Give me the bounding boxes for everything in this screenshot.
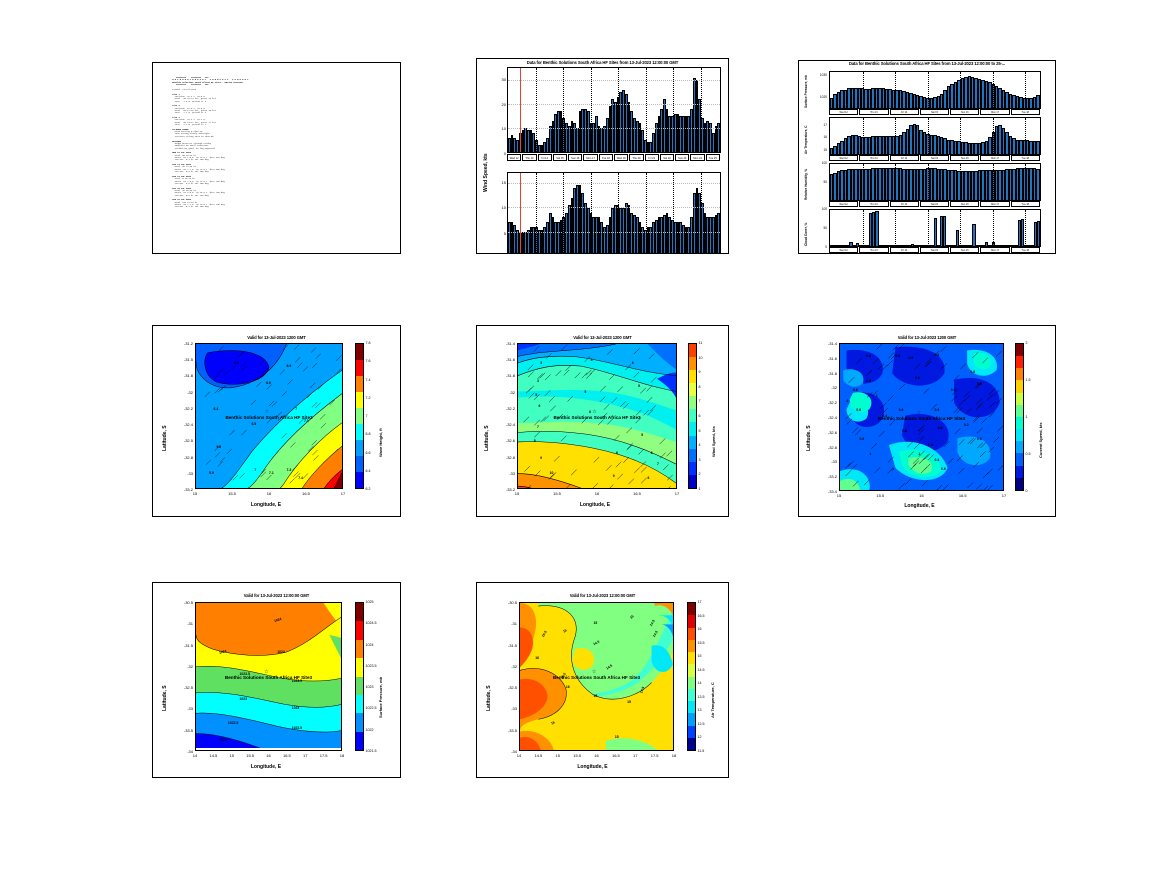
current-contour-xlabel: Longitude, E — [837, 503, 1002, 509]
x-tick-label: 17 — [626, 753, 644, 758]
day-divider — [895, 210, 896, 246]
day-divider — [928, 164, 929, 200]
x-tick-label: 15.5 — [871, 493, 889, 498]
temperature-contour-title: Valid for 13-Jul-2023 12:00:00 GMT — [477, 593, 728, 598]
x-tick-label: 16.5 — [278, 753, 296, 758]
contour-label: 6 — [539, 404, 541, 408]
y-tick-label: -33 — [822, 459, 837, 464]
colorbar-tick-label: 15 — [698, 654, 702, 658]
site-label: Benthic Solutions South Africa HF Site3 — [520, 675, 673, 680]
contour-label: 6.5 — [234, 361, 239, 365]
day-divider — [618, 68, 619, 152]
colorbar-segment — [689, 475, 696, 488]
colorbar-tick-label: 6.4 — [366, 469, 371, 473]
x-tick-label: 16 — [588, 491, 606, 496]
y-tick-label: -32 — [502, 664, 517, 669]
met-subplot-ytick: 0 — [809, 245, 827, 249]
contour-label: 0.6 — [977, 382, 982, 386]
wave-height-axes — [507, 172, 721, 254]
colorbar-tick-label: 2 — [699, 472, 701, 476]
contour-label: 0 — [847, 399, 849, 403]
met-day-label: Sat 15 — [920, 155, 949, 161]
colorbar-segment — [356, 376, 363, 392]
y-tick-label: -33.2 — [822, 474, 837, 479]
colorbar — [1015, 343, 1024, 491]
contour-label: 6.5 — [251, 422, 256, 426]
colorbar-tick-label: 5 — [699, 429, 701, 433]
colorbar-tick-label: 1023 — [366, 685, 374, 689]
temperature-contour-axes: 15.515151514.514.514.51615.516151514.516… — [519, 602, 674, 751]
day-divider — [863, 118, 864, 154]
x-tick-label: 14.5 — [529, 753, 547, 758]
wind-speed-day-label: Fri 21 — [645, 154, 659, 161]
x-tick-label: 17 — [296, 753, 314, 758]
met-subplot-ylabel: Air Temperature, C — [804, 126, 808, 154]
met-subplot-ylabel: Surface Pressure, mb — [804, 75, 808, 108]
contour-label: 15 — [615, 735, 619, 739]
x-tick-label: 16.5 — [954, 493, 972, 498]
contour-label: 0.4 — [928, 443, 933, 447]
contour-label: 16 — [550, 720, 555, 725]
day-divider — [591, 173, 592, 254]
x-tick-label: 16 — [260, 753, 278, 758]
forecast-text-body: ======== ======== === M E T E O R O L O … — [171, 77, 392, 209]
wind-speed-day-label: Mon 17 — [583, 154, 597, 161]
contour-label: 16 — [566, 685, 570, 689]
y-tick-label: -33.5 — [178, 728, 193, 733]
wind-speed-axes — [507, 67, 721, 153]
colorbar-segment — [1016, 466, 1023, 478]
x-tick-label: 15.5 — [241, 753, 259, 758]
contour-label: 5 — [584, 390, 586, 394]
wind-contour-title: Valid for 13-Jul-2023 1200 GMT — [477, 335, 728, 340]
bar-series — [830, 210, 1040, 246]
met-subplot-ytick: 1020 — [809, 95, 827, 99]
colorbar-tick-label: 6.6 — [366, 451, 371, 455]
y-tick-label: -31.6 — [822, 356, 837, 361]
contour-label: 6.9 — [287, 364, 292, 368]
contour-label: 0.8 — [866, 354, 871, 358]
met-subplot-ytick: 100 — [809, 207, 827, 211]
y-tick-label: -31.8 — [500, 373, 515, 378]
site-label: Benthic Solutions South Africa HF Site3 — [196, 415, 342, 420]
day-divider — [960, 72, 961, 108]
colorbar-tick-label: 1021.5 — [366, 749, 377, 753]
day-divider — [536, 173, 537, 254]
met-subplot-ylabel: Cloud Cover, % — [804, 223, 808, 246]
wind-contour-axes: 33567891045666556769Benthic Solutions So… — [517, 343, 677, 489]
contour-label: 1022.5 — [228, 721, 238, 725]
contour-label: 1023 — [240, 697, 248, 701]
contour-label: 6.4 — [214, 407, 219, 411]
bar — [1036, 169, 1039, 200]
met-subplot-axes — [829, 209, 1041, 247]
wind-speed-ytick: 20 — [493, 102, 506, 107]
day-divider — [1025, 118, 1026, 154]
wind-wave-timeseries-panel: Data for Benthic Solutions South Africa … — [476, 58, 729, 254]
x-tick-label: 16.5 — [628, 491, 646, 496]
met-day-label: Wed 12 — [829, 155, 858, 161]
y-tick-label: -32 — [500, 390, 515, 395]
day-divider — [701, 68, 702, 152]
site-label: Benthic Solutions South Africa HF Site3 — [840, 416, 1003, 421]
contour-label: 16 — [535, 656, 539, 660]
y-tick-label: -33 — [502, 706, 517, 711]
y-tick-label: -32.8 — [178, 455, 193, 460]
colorbar-tick-label: 9 — [699, 370, 701, 374]
wind-speed-day-label: Sat 15 — [553, 154, 567, 161]
met-day-label: Tue 18 — [1011, 247, 1040, 253]
colorbar-segment — [689, 436, 696, 449]
day-divider — [960, 118, 961, 154]
site-label: Benthic Solutions South Africa HF Site3 — [518, 415, 676, 420]
contour-label: 0.6 — [935, 408, 940, 412]
wind-speed-ytick: 30 — [493, 77, 506, 82]
bar — [1021, 219, 1024, 246]
colorbar-tick-label: 6.8 — [366, 432, 371, 436]
contour-label: 0.6 — [853, 388, 858, 392]
y-tick-label: -32.2 — [500, 406, 515, 411]
wind-speed-day-label: Sat 22 — [660, 154, 674, 161]
colorbar-segment — [1016, 429, 1023, 441]
met-day-label: Fri 14 — [890, 247, 919, 253]
colorbar-segment — [1016, 356, 1023, 368]
colorbar-tick-label: 12.5 — [698, 722, 705, 726]
wind-speed-day-label: Mon 24 — [690, 154, 704, 161]
colorbar-tick-label: 8 — [699, 385, 701, 389]
day-divider — [960, 164, 961, 200]
temperature-contour-ylabel: Latitude, S — [486, 685, 492, 711]
y-tick-label: -31.2 — [178, 341, 193, 346]
met-day-label: Fri 14 — [890, 109, 919, 115]
contour-label: 7.4 — [298, 476, 303, 480]
colorbar-segment — [356, 732, 363, 750]
y-tick-label: -33 — [500, 471, 515, 476]
colorbar-segment — [356, 456, 363, 472]
met-subplot-ytick: 16 — [809, 135, 827, 139]
y-tick-label: -32.6 — [500, 438, 515, 443]
met-day-label: Tue 18 — [1011, 201, 1040, 207]
met-timeseries-panel: Data for Benthic Solutions South Africa … — [798, 60, 1056, 254]
colorbar-tick-label: 15.5 — [698, 641, 705, 645]
contour-label: 1022 — [219, 738, 227, 742]
pressure-contour-axes: 1024102410241023.51023.5102310231022.510… — [195, 602, 342, 751]
site-marker-icon: ☆ — [917, 410, 921, 416]
day-divider — [646, 68, 647, 152]
wave-contour-ylabel: Latitude, S — [162, 425, 168, 451]
colorbar-title: Air Temperature, C — [710, 683, 715, 719]
contour-label: 10 — [550, 471, 554, 475]
day-divider — [1025, 72, 1026, 108]
air-temperature-contour-panel: Valid for 13-Jul-2023 12:00:00 GMT Latit… — [476, 582, 729, 778]
site-marker-icon: ☆ — [592, 409, 596, 415]
y-tick-label: -34 — [502, 749, 517, 754]
wind-speed-axis-label: Wind Speed, kts — [483, 153, 489, 192]
met-day-label: Wed 12 — [829, 109, 858, 115]
colorbar-segment — [1016, 441, 1023, 453]
contour-label: 6 — [616, 451, 618, 455]
contour-label: 0.8 — [902, 429, 907, 433]
met-subplot-axes — [829, 117, 1041, 155]
colorbar-tick-label: 1.5 — [1026, 378, 1031, 382]
colorbar-tick-label: 14.5 — [698, 668, 705, 672]
colorbar-tick-label: 1022.5 — [366, 706, 377, 710]
y-tick-label: -33 — [178, 706, 193, 711]
bar — [1037, 221, 1040, 246]
colorbar-segment — [1016, 344, 1023, 356]
colorbar-tick-label: 7.2 — [366, 396, 371, 400]
wind-speed-day-label: Sun 16 — [568, 154, 582, 161]
bar — [972, 224, 975, 246]
colorbar-segment — [356, 408, 363, 424]
gridline — [508, 183, 720, 184]
colorbar-tick-label: 4 — [699, 443, 701, 447]
day-divider — [928, 118, 929, 154]
bar — [943, 216, 946, 246]
met-subplot-axes — [829, 163, 1041, 201]
y-tick-label: -30.5 — [178, 600, 193, 605]
pressure-contour-ylabel: Latitude, S — [162, 685, 168, 711]
temperature-contour-xlabel: Longitude, E — [515, 764, 670, 770]
current-contour-ylabel: Latitude, S — [806, 425, 812, 451]
colorbar-tick-label: 16.5 — [698, 614, 705, 618]
contour-label: 6.6 — [216, 445, 221, 449]
met-day-label: Wed 12 — [829, 201, 858, 207]
colorbar-segment — [356, 360, 363, 376]
x-tick-label: 18 — [333, 753, 351, 758]
contour-label: 15 — [627, 700, 631, 704]
day-divider — [993, 164, 994, 200]
x-tick-label: 15 — [223, 753, 241, 758]
contour-label: 0.6 — [935, 353, 940, 357]
x-tick-label: 17 — [668, 491, 686, 496]
contour-label: 0.2 — [964, 423, 969, 427]
y-tick-label: -30.5 — [502, 600, 517, 605]
contour-label: 5 — [641, 433, 643, 437]
day-divider — [863, 72, 864, 108]
y-tick-label: -32.2 — [822, 400, 837, 405]
wind-speed-day-label: Tue 25 — [706, 154, 720, 161]
bar — [717, 213, 720, 254]
x-tick-label: 17.5 — [646, 753, 664, 758]
y-tick-label: -33.2 — [178, 487, 193, 492]
contour-label: 15 — [593, 694, 597, 698]
bar-series — [508, 173, 720, 254]
y-tick-label: -31.4 — [500, 341, 515, 346]
site-marker-icon: ☆ — [264, 669, 268, 675]
x-tick-label: 17 — [995, 493, 1013, 498]
y-tick-label: -32 — [822, 385, 837, 390]
contour-label: 1024 — [277, 650, 285, 654]
day-divider — [863, 164, 864, 200]
colorbar-segment — [688, 628, 695, 640]
contour-label: 1 — [892, 467, 894, 471]
met-chart-title: Data for Benthic Solutions South Africa … — [799, 61, 1055, 66]
forecast-text-report-panel: ======== ======== === M E T E O R O L O … — [152, 62, 401, 254]
colorbar-segment — [356, 658, 363, 676]
colorbar-segment — [688, 726, 695, 738]
colorbar-tick-label: 11.5 — [698, 749, 705, 753]
day-divider — [701, 173, 702, 254]
colorbar-segment — [688, 677, 695, 689]
colorbar-tick-label: 13.5 — [698, 695, 705, 699]
y-tick-label: -32.5 — [178, 685, 193, 690]
colorbar — [687, 602, 696, 751]
current-time-marker — [520, 68, 521, 152]
colorbar-tick-label: 1023.5 — [366, 664, 377, 668]
met-day-label: Sat 15 — [920, 201, 949, 207]
contour-label: 9 — [613, 474, 615, 478]
met-subplot-ylabel: Relative Humidity, % — [804, 169, 808, 200]
contour-label: 15 — [593, 621, 597, 625]
met-day-label: Mon 17 — [980, 201, 1009, 207]
colorbar-tick-label: 6 — [699, 414, 701, 418]
colorbar-segment — [688, 738, 695, 750]
colorbar-tick-label: 6.2 — [366, 487, 371, 491]
contour-label: 0.6 — [856, 408, 861, 412]
met-day-label: Thu 13 — [859, 201, 888, 207]
colorbar-segment — [356, 713, 363, 731]
colorbar-segment — [689, 462, 696, 475]
x-tick-label: 14.5 — [204, 753, 222, 758]
colorbar-segment — [356, 640, 363, 658]
contour-label: 7.3 — [287, 468, 292, 472]
contour-label: 0.6 — [895, 354, 900, 358]
contour-label: 7 — [537, 425, 539, 429]
day-divider — [673, 173, 674, 254]
colorbar-segment — [689, 409, 696, 422]
colorbar-tick-label: 1 — [699, 487, 701, 491]
gridline — [508, 128, 720, 129]
colorbar-tick-label: 2 — [1026, 341, 1028, 345]
contour-label: 0.8 — [866, 379, 871, 383]
contour-label: 0.4 — [935, 458, 940, 462]
contour-label: 5 — [535, 393, 537, 397]
day-divider — [673, 68, 674, 152]
x-tick-label: 16.5 — [607, 753, 625, 758]
day-divider — [895, 118, 896, 154]
y-tick-label: -32 — [178, 664, 193, 669]
wave-contour-axes: 6.46.56.65.96.96.56.977.177.17.37.4Benth… — [195, 343, 343, 489]
met-day-label: Sun 16 — [950, 155, 979, 161]
met-subplot-ytick: 15 — [809, 148, 827, 152]
contour-label: 1022.5 — [292, 726, 302, 730]
y-tick-label: -31.4 — [822, 341, 837, 346]
current-time-marker — [520, 173, 521, 254]
y-tick-label: -33.2 — [500, 487, 515, 492]
bar-series — [830, 118, 1040, 154]
bar-series — [830, 72, 1040, 108]
colorbar-segment — [1016, 417, 1023, 429]
pressure-contour-xlabel: Longitude, E — [191, 764, 341, 770]
contour-label: 6 — [648, 476, 650, 480]
x-tick-label: 15.5 — [568, 753, 586, 758]
colorbar-title: Wave Height, ft — [378, 428, 383, 457]
colorbar-segment — [688, 640, 695, 652]
contour-label: 0.6 — [970, 370, 975, 374]
colorbar-tick-label: 0.5 — [1026, 452, 1031, 456]
met-day-label: Sat 15 — [920, 109, 949, 115]
contour-label: 3 — [537, 379, 539, 383]
contour-label: 0.2 — [951, 388, 956, 392]
colorbar-tick-label: 14 — [698, 681, 702, 685]
x-tick-label: 18 — [665, 753, 683, 758]
met-day-label: Mon 17 — [980, 109, 1009, 115]
met-day-label: Thu 13 — [859, 109, 888, 115]
contour-label: 7 — [295, 407, 297, 411]
colorbar-tick-label: 11 — [699, 341, 703, 345]
x-tick-label: 16 — [260, 491, 278, 496]
contour-label: 0.6 — [899, 408, 904, 412]
colorbar-segment — [1016, 453, 1023, 465]
colorbar-tick-label: 7 — [699, 399, 701, 403]
bar-series — [830, 164, 1040, 200]
site-marker-icon: ☆ — [592, 669, 596, 675]
gridline — [508, 232, 720, 233]
contour-label: 5.9 — [209, 471, 214, 475]
colorbar-segment — [356, 472, 363, 488]
wind-speed-contour-panel: Valid for 13-Jul-2023 1200 GMT Latitude,… — [476, 325, 729, 517]
wind-speed-day-label: Thu 20 — [629, 154, 643, 161]
met-day-label: Sun 16 — [950, 109, 979, 115]
met-day-label: Wed 12 — [829, 247, 858, 253]
bar — [1036, 95, 1039, 108]
colorbar-tick-label: 16 — [698, 627, 702, 631]
colorbar — [355, 602, 364, 751]
colorbar-tick-label: 1025 — [366, 600, 374, 604]
day-divider — [1025, 210, 1026, 246]
day-divider — [960, 210, 961, 246]
gridline — [508, 207, 720, 208]
wind-speed-day-label: Fri 14 — [538, 154, 552, 161]
wave-height-ytick: 15 — [493, 180, 506, 185]
bar — [956, 230, 959, 246]
contour-label: 3 — [540, 361, 542, 365]
contour-label: 6 — [651, 451, 653, 455]
y-tick-label: -33 — [178, 471, 193, 476]
colorbar-segment — [356, 603, 363, 621]
contour-label: 7 — [657, 462, 659, 466]
colorbar-tick-label: 17 — [698, 600, 702, 604]
met-day-label: Thu 13 — [859, 155, 888, 161]
met-day-label: Fri 14 — [890, 155, 919, 161]
y-tick-label: -33.5 — [502, 728, 517, 733]
day-divider — [646, 173, 647, 254]
contour-label: 7.1 — [269, 471, 274, 475]
day-divider — [863, 210, 864, 246]
contour-label: 7 — [254, 468, 256, 472]
y-tick-label: -32.5 — [178, 438, 193, 443]
day-divider — [618, 173, 619, 254]
wind-contour-ylabel: Latitude, S — [484, 425, 490, 451]
colorbar-tick-label: 13 — [698, 708, 702, 712]
day-divider — [993, 118, 994, 154]
wind-speed-ytick: 0 — [493, 151, 506, 156]
wave-height-ytick: 5 — [493, 231, 506, 236]
contour-label: 1 — [918, 452, 920, 456]
colorbar-segment — [356, 695, 363, 713]
met-subplot-ytick: 50 — [809, 226, 827, 230]
contour-label: 0.6 — [860, 437, 865, 441]
y-tick-label: -31.8 — [178, 373, 193, 378]
colorbar-tick-label: 7.8 — [366, 341, 371, 345]
gridline — [508, 104, 720, 105]
contour-label: 5 — [638, 384, 640, 388]
contour-label: 1 — [876, 394, 878, 398]
contour-label: 9 — [540, 456, 542, 460]
met-day-label: Mon 17 — [980, 155, 1009, 161]
colorbar-segment — [689, 449, 696, 462]
